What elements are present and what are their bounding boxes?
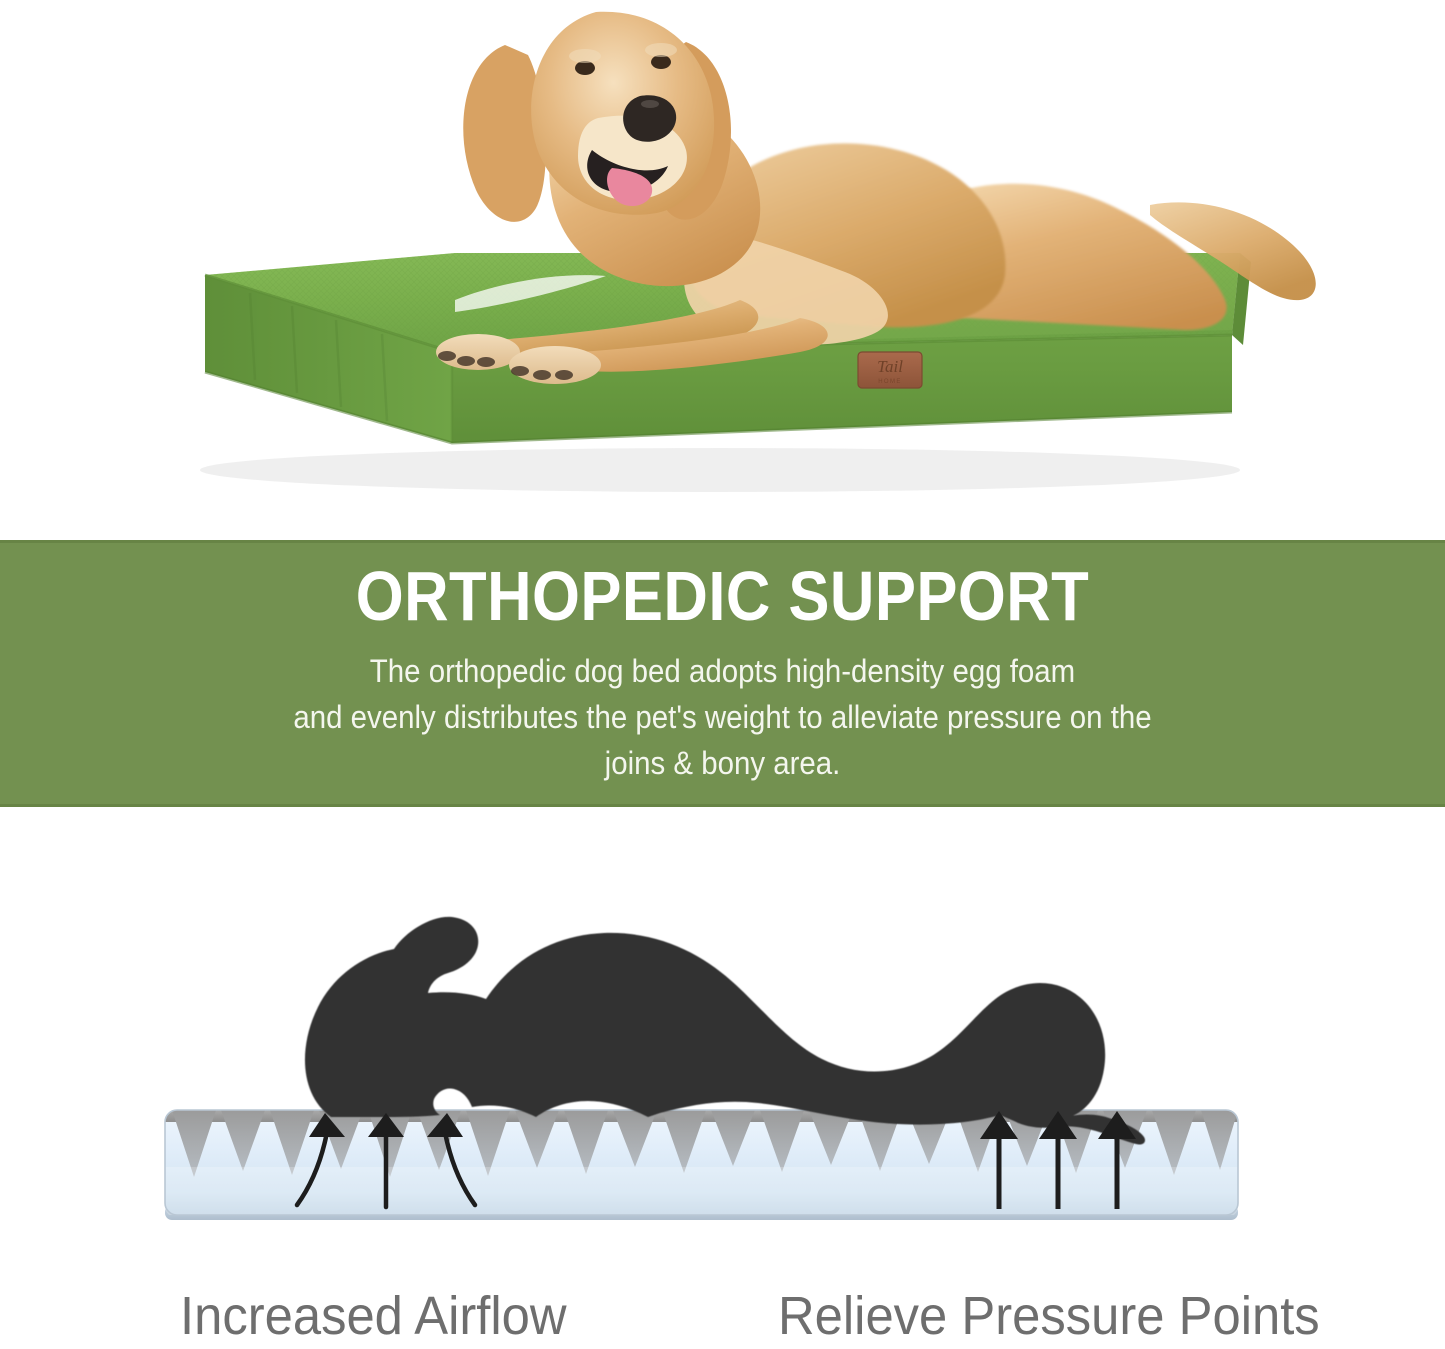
brand-patch: Tail HOME (858, 352, 922, 388)
brand-patch-text: Tail (877, 357, 903, 376)
diagram-captions: Increased Airflow Relieve Pressure Point… (0, 1289, 1445, 1349)
product-infographic-page: Tail HOME (0, 0, 1445, 1349)
banner-body: The orthopedic dog bed adopts high-densi… (58, 634, 1387, 786)
banner-body-line-2: and evenly distributes the pet's weight … (58, 694, 1387, 740)
bed-floor-shadow (200, 448, 1240, 492)
banner-body-line-3: joins & bony area. (58, 740, 1387, 786)
banner-body-line-1: The orthopedic dog bed adopts high-densi… (58, 648, 1387, 694)
caption-increased-airflow: Increased Airflow (180, 1289, 567, 1343)
brand-patch-subtext: HOME (878, 379, 902, 385)
foam-diagram-section: Increased Airflow Relieve Pressure Point… (0, 807, 1445, 1349)
dog-eye-right (651, 55, 671, 69)
hero-illustration: Tail HOME (0, 0, 1445, 540)
banner-title: ORTHOPEDIC SUPPORT (87, 540, 1359, 634)
orthopedic-support-banner: ORTHOPEDIC SUPPORT The orthopedic dog be… (0, 540, 1445, 807)
dog-eye-left (575, 61, 595, 75)
caption-relieve-pressure-points: Relieve Pressure Points (778, 1289, 1320, 1343)
hero-product-photo: Tail HOME (0, 0, 1445, 540)
foam-diagram-illustration (0, 807, 1445, 1289)
